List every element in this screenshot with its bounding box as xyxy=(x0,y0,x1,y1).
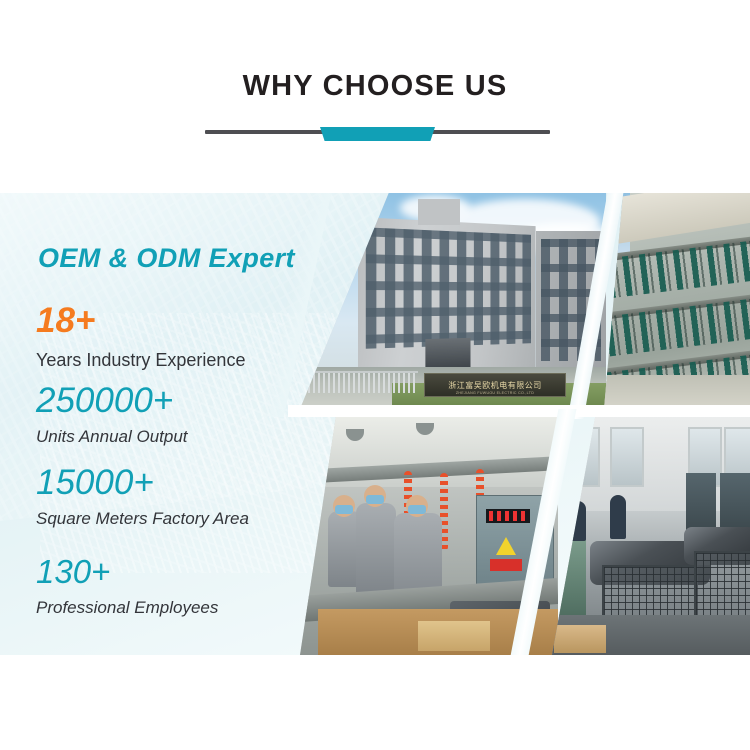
drilling-machine xyxy=(686,473,716,535)
drilling-machine xyxy=(720,473,750,535)
building-rooftop-structure xyxy=(418,199,460,225)
signboard-chinese-text: 浙江富吴欧机电有限公司 xyxy=(448,380,542,391)
cardboard-box xyxy=(554,625,606,653)
worker xyxy=(610,495,626,539)
stat-value: 18+ xyxy=(36,303,245,338)
photo-separator xyxy=(288,405,750,417)
header: WHY CHOOSE US xyxy=(0,0,750,145)
stat-label: Years Industry Experience xyxy=(36,351,245,369)
worker xyxy=(568,501,586,541)
panel-display xyxy=(486,509,530,523)
stat-employees: 130+ Professional Employees xyxy=(36,555,218,616)
stat-value: 250000+ xyxy=(36,383,188,418)
coating-line-photo xyxy=(604,193,750,409)
signboard-english-text: ZHEJIANG FUWUOU ELECTRIC CO.,LTD xyxy=(456,391,534,395)
safety-label xyxy=(490,559,522,571)
stat-label: Square Meters Factory Area xyxy=(36,510,249,527)
stat-factory-area: 15000+ Square Meters Factory Area xyxy=(36,465,249,527)
window xyxy=(610,427,644,487)
stat-label: Professional Employees xyxy=(36,599,218,616)
title-divider xyxy=(0,123,750,145)
face-mask xyxy=(408,505,426,514)
workshop-floor xyxy=(604,375,750,409)
company-signboard: 浙江富吴欧机电有限公司 ZHEJIANG FUWUOU ELECTRIC CO.… xyxy=(424,373,566,397)
castings-workshop-photo xyxy=(552,415,750,655)
building-windows xyxy=(366,227,531,348)
page-title: WHY CHOOSE US xyxy=(0,72,750,101)
divider-bar-icon xyxy=(320,127,435,141)
wire-mesh-bin xyxy=(694,551,750,617)
stat-annual-output: 250000+ Units Annual Output xyxy=(36,383,188,445)
oem-odm-headline: OEM & ODM Expert xyxy=(38,243,295,274)
stat-value: 15000+ xyxy=(36,465,249,500)
building-facade xyxy=(358,217,536,377)
stat-years-experience: 18+ Years Industry Experience xyxy=(36,303,245,369)
wooden-crate xyxy=(418,621,490,651)
stat-value: 130+ xyxy=(36,555,218,588)
content-band: 浙江富吴欧机电有限公司 ZHEJIANG FUWUOU ELECTRIC CO.… xyxy=(0,193,750,655)
stat-label: Units Annual Output xyxy=(36,428,188,445)
face-mask xyxy=(366,495,384,504)
